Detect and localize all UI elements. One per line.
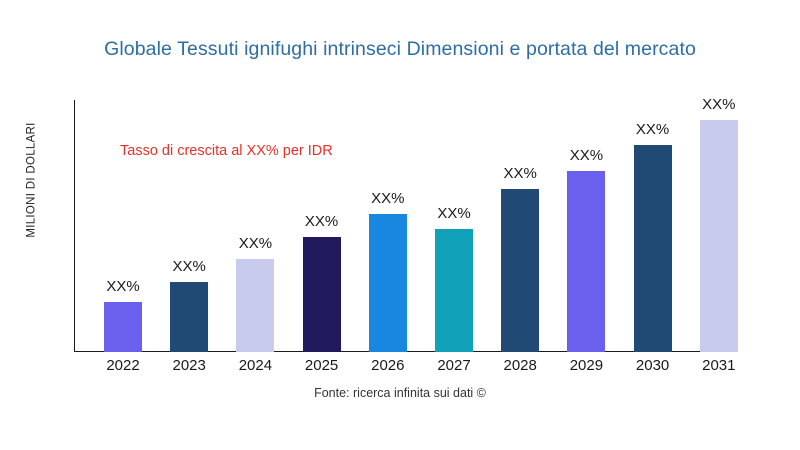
bar-2026[interactable] <box>369 214 407 352</box>
x-tick-2031: 2031 <box>679 357 759 374</box>
bar-2031[interactable] <box>700 120 738 352</box>
page-title: Globale Tessuti ignifughi intrinseci Dim… <box>0 38 800 61</box>
bar-2030[interactable] <box>634 145 672 352</box>
bar-value-label: XX% <box>414 205 494 222</box>
bar-value-label: XX% <box>215 235 295 252</box>
bar-2023[interactable] <box>170 282 208 352</box>
growth-rate-annotation: Tasso di crescita al XX% per IDR <box>120 143 333 159</box>
y-axis-label: MILIONI DI DOLLARI <box>22 60 42 300</box>
bar-2028[interactable] <box>501 189 539 352</box>
bar-value-label: XX% <box>546 147 626 164</box>
bar-2025[interactable] <box>303 237 341 352</box>
bar-2022[interactable] <box>104 302 142 352</box>
bar-value-label: XX% <box>282 213 362 230</box>
bar-value-label: XX% <box>83 278 163 295</box>
bar-value-label: XX% <box>480 165 560 182</box>
bar-2029[interactable] <box>567 171 605 352</box>
bar-value-label: XX% <box>613 121 693 138</box>
bar-value-label: XX% <box>679 96 759 113</box>
source-note: Fonte: ricerca infinita sui dati © <box>0 386 800 400</box>
bar-value-label: XX% <box>149 258 229 275</box>
chart-page: Globale Tessuti ignifughi intrinseci Dim… <box>0 0 800 450</box>
bar-2024[interactable] <box>236 259 274 352</box>
y-axis-label-text: MILIONI DI DOLLARI <box>26 122 38 237</box>
bar-2027[interactable] <box>435 229 473 352</box>
